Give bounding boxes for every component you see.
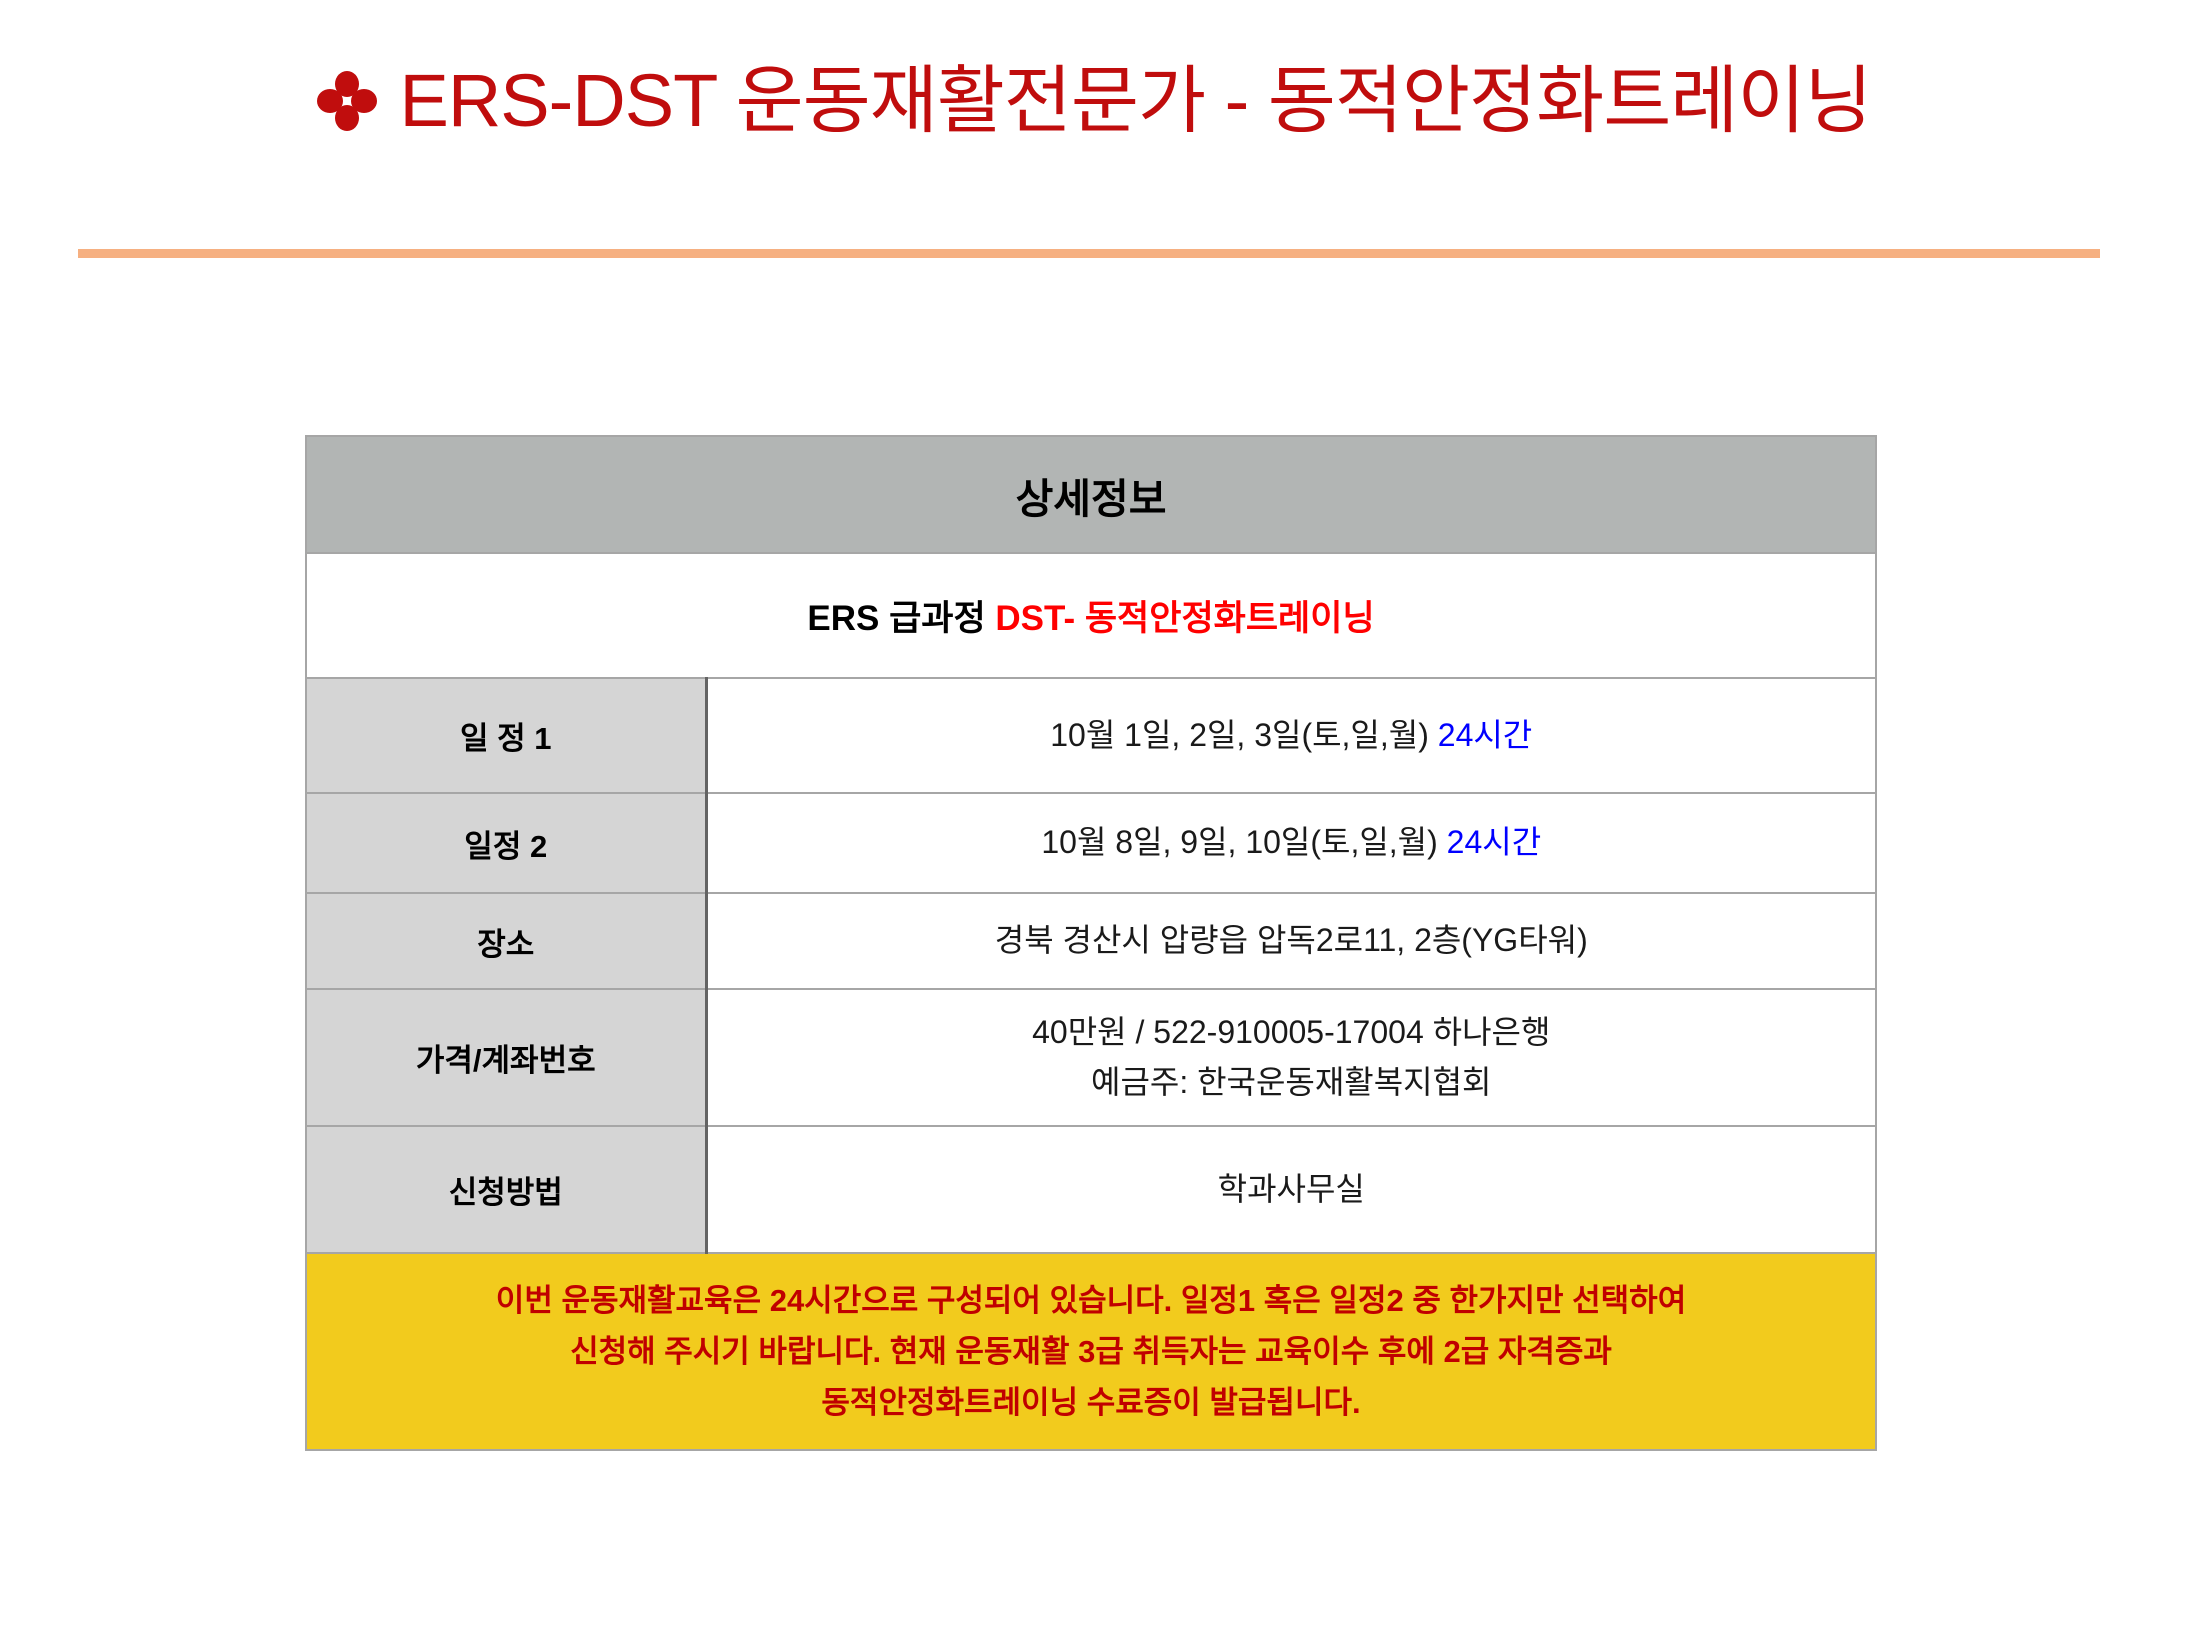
course-name-highlight: DST- 동적안정화트레이닝 (995, 599, 1374, 638)
price-account-line-2: 예금주: 한국운동재활복지협회 (708, 1058, 1876, 1108)
table-subtitle-cell: ERS 급과정 DST- 동적안정화트레이닝 (306, 553, 1876, 678)
row-value-location: 경북 경산시 압량읍 압독2로11, 2층(YG타워) (706, 893, 1876, 989)
notice-line-2: 신청해 주시기 바랍니다. 현재 운동재활 3급 취득자는 교육이수 후에 2급… (307, 1326, 1875, 1377)
table-row: 일 정 1 10월 1일, 2일, 3일(토,일,월) 24시간 (306, 678, 1876, 793)
schedule-2-hours: 24시간 (1447, 824, 1541, 860)
row-label-application-method: 신청방법 (306, 1126, 706, 1253)
course-name-prefix: ERS 급과정 (807, 599, 995, 638)
schedule-1-dates: 10월 1일, 2일, 3일(토,일,월) (1050, 717, 1438, 753)
table-row: 가격/계좌번호 40만원 / 522-910005-17004 하나은행 예금주… (306, 989, 1876, 1126)
row-label-price-account: 가격/계좌번호 (306, 989, 706, 1126)
table-row: 장소 경북 경산시 압량읍 압독2로11, 2층(YG타워) (306, 893, 1876, 989)
page-title-row: ERS-DST 운동재활전문가 - 동적안정화트레이닝 (0, 62, 2187, 140)
four-petal-flower-icon (315, 69, 379, 133)
row-label-schedule-1: 일 정 1 (306, 678, 706, 793)
row-label-schedule-2: 일정 2 (306, 793, 706, 893)
table-row: 신청방법 학과사무실 (306, 1126, 1876, 1253)
page-title: ERS-DST 운동재활전문가 - 동적안정화트레이닝 (399, 62, 1871, 140)
title-divider (78, 249, 2100, 258)
row-value-application-method: 학과사무실 (706, 1126, 1876, 1253)
row-value-schedule-1: 10월 1일, 2일, 3일(토,일,월) 24시간 (706, 678, 1876, 793)
price-account-line-1: 40만원 / 522-910005-17004 하나은행 (708, 1008, 1876, 1058)
table-subtitle-row: ERS 급과정 DST- 동적안정화트레이닝 (306, 553, 1876, 678)
notice-line-1: 이번 운동재활교육은 24시간으로 구성되어 있습니다. 일정1 혹은 일정2 … (307, 1275, 1875, 1326)
table-header-cell: 상세정보 (306, 436, 1876, 553)
table-header-title: 상세정보 (1016, 476, 1167, 522)
notice-cell: 이번 운동재활교육은 24시간으로 구성되어 있습니다. 일정1 혹은 일정2 … (306, 1253, 1876, 1450)
notice-line-3: 동적안정화트레이닝 수료증이 발급됩니다. (307, 1377, 1875, 1428)
row-value-schedule-2: 10월 8일, 9일, 10일(토,일,월) 24시간 (706, 793, 1876, 893)
schedule-1-hours: 24시간 (1438, 717, 1532, 753)
table-row: 일정 2 10월 8일, 9일, 10일(토,일,월) 24시간 (306, 793, 1876, 893)
row-value-price-account: 40만원 / 522-910005-17004 하나은행 예금주: 한국운동재활… (706, 989, 1876, 1126)
table-header-row: 상세정보 (306, 436, 1876, 553)
detail-info-table: 상세정보 ERS 급과정 DST- 동적안정화트레이닝 일 정 1 10월 1일… (305, 435, 1877, 1451)
row-label-location: 장소 (306, 893, 706, 989)
notice-row: 이번 운동재활교육은 24시간으로 구성되어 있습니다. 일정1 혹은 일정2 … (306, 1253, 1876, 1450)
schedule-2-dates: 10월 8일, 9일, 10일(토,일,월) (1041, 824, 1446, 860)
